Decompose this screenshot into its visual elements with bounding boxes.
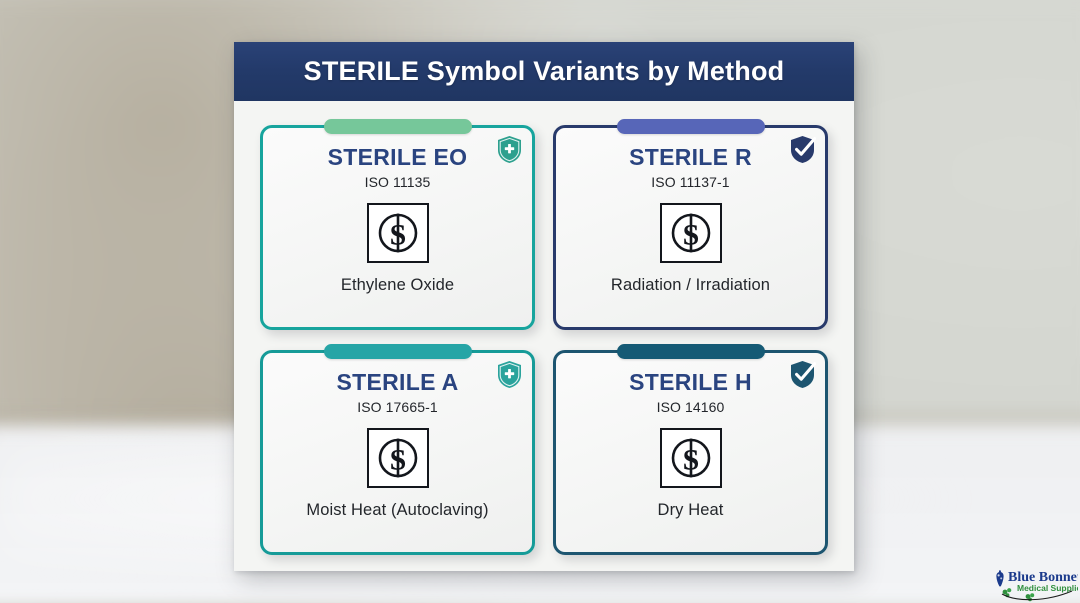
card-method-label: Dry Heat (650, 501, 732, 520)
svg-text:S: S (389, 444, 406, 477)
card-method-label: Moist Heat (Autoclaving) (298, 501, 496, 520)
card-title: STERILE R (629, 145, 752, 169)
card-method-label: Radiation / Irradiation (603, 276, 778, 295)
card-accent-pill (324, 344, 472, 359)
svg-text:S: S (682, 444, 699, 477)
card-sterile-eo[interactable]: STERILE EO ISO 11135 S Ethylene Oxide (260, 125, 535, 330)
card-method-label: Ethylene Oxide (333, 276, 462, 295)
card-title: STERILE A (337, 370, 459, 394)
bluebonnet-flower-icon (996, 570, 1003, 586)
card-sterile-r[interactable]: STERILE R ISO 11137-1 S Radiation / Irra… (553, 125, 828, 330)
brand-logo: Blue Bonnet Medical Supplies (990, 566, 1078, 603)
svg-text:S: S (389, 219, 406, 252)
card-accent-pill (617, 344, 765, 359)
shield-plus-icon (496, 360, 523, 389)
sterile-symbol-icon: S (367, 428, 429, 488)
card-iso-standard: ISO 11135 (365, 174, 431, 190)
card-accent-pill (324, 119, 472, 134)
card-iso-standard: ISO 17665-1 (357, 399, 438, 415)
card-sterile-a[interactable]: STERILE A ISO 17665-1 S Moist Heat (Auto… (260, 350, 535, 555)
poster-title-bar: STERILE Symbol Variants by Method (234, 42, 854, 101)
sterile-symbol-icon: S (660, 203, 722, 263)
card-iso-standard: ISO 14160 (657, 399, 725, 415)
sterile-symbols-poster: STERILE Symbol Variants by Method STERIL… (234, 42, 854, 571)
sterile-symbol-icon: S (367, 203, 429, 263)
screenshot-scene: STERILE Symbol Variants by Method STERIL… (0, 0, 1080, 603)
card-sterile-h[interactable]: STERILE H ISO 14160 S Dry Heat (553, 350, 828, 555)
page-title: STERILE Symbol Variants by Method (304, 56, 785, 87)
svg-text:S: S (682, 219, 699, 252)
shield-plus-icon (496, 135, 523, 164)
card-grid: STERILE EO ISO 11135 S Ethylene Oxide (234, 101, 854, 571)
shield-check-icon (789, 360, 816, 389)
card-title: STERILE EO (328, 145, 468, 169)
sterile-symbol-icon: S (660, 428, 722, 488)
card-title: STERILE H (629, 370, 752, 394)
logo-line2: Medical Supplies (1017, 583, 1078, 593)
card-accent-pill (617, 119, 765, 134)
card-iso-standard: ISO 11137-1 (651, 174, 729, 190)
shield-check-icon (789, 135, 816, 164)
